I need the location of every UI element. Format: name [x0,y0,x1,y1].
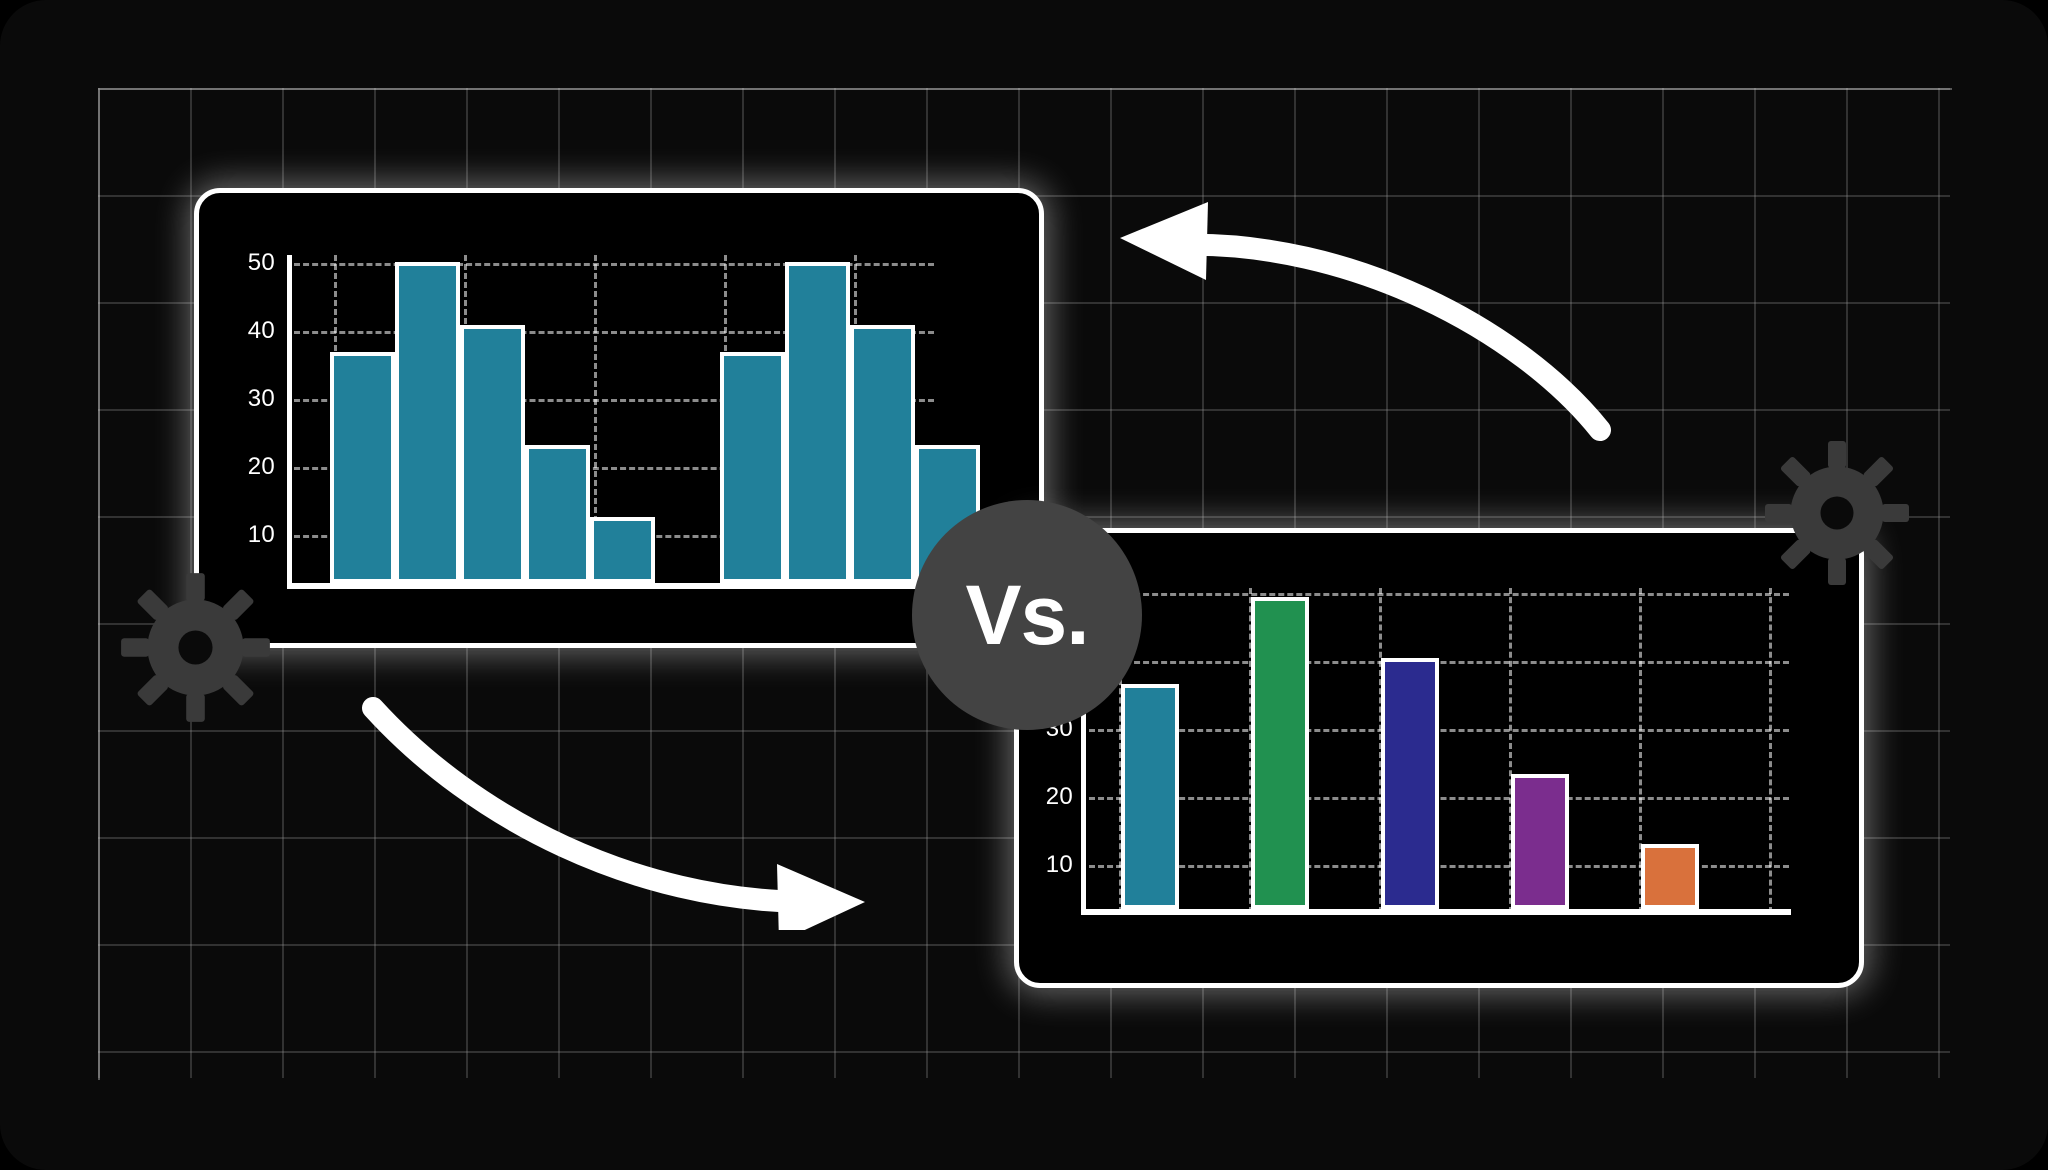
y-tick-label: 10 [1019,851,1073,879]
gridline-h-20 [1089,797,1789,800]
gridline-h-30 [1089,729,1789,732]
gridline-h-40 [1089,661,1789,664]
histogram-bar [460,325,525,583]
histogram-bar [850,325,915,583]
histogram-bar [525,445,590,583]
gridline-h-50 [1089,593,1789,596]
category-bar [1381,658,1439,909]
gear-icon [1762,438,1912,588]
gear-icon [118,570,273,725]
y-tick-label: 20 [209,453,275,481]
histogram-plot: 50 40 30 20 10 [199,193,1039,643]
histogram-bar [720,352,785,583]
vs-badge: Vs. [912,500,1142,730]
histogram-bar [395,262,460,583]
x-axis [1081,909,1791,915]
y-axis [287,255,292,587]
y-tick-label: 40 [209,317,275,345]
x-axis [287,583,947,589]
category-bar-plot: 40 30 20 10 [1019,533,1859,983]
histogram-bar [590,517,655,583]
scene-root: 50 40 30 20 10 [0,0,2048,1170]
curved-arrow-right-icon [355,690,885,930]
y-tick-label: 10 [209,521,275,549]
category-bar [1641,844,1699,909]
category-bar [1121,684,1179,909]
category-bar [1511,774,1569,909]
curved-arrow-left-icon [1120,200,1660,460]
vs-label: Vs. [965,567,1088,664]
gridline-v-6 [1769,588,1772,913]
category-bar-panel: 40 30 20 10 [1014,528,1864,988]
y-tick-label: 20 [1019,783,1073,811]
histogram-bar [330,352,395,583]
y-tick-label: 50 [209,249,275,277]
category-bar [1251,597,1309,909]
histogram-bar [785,262,850,583]
y-tick-label: 30 [209,385,275,413]
